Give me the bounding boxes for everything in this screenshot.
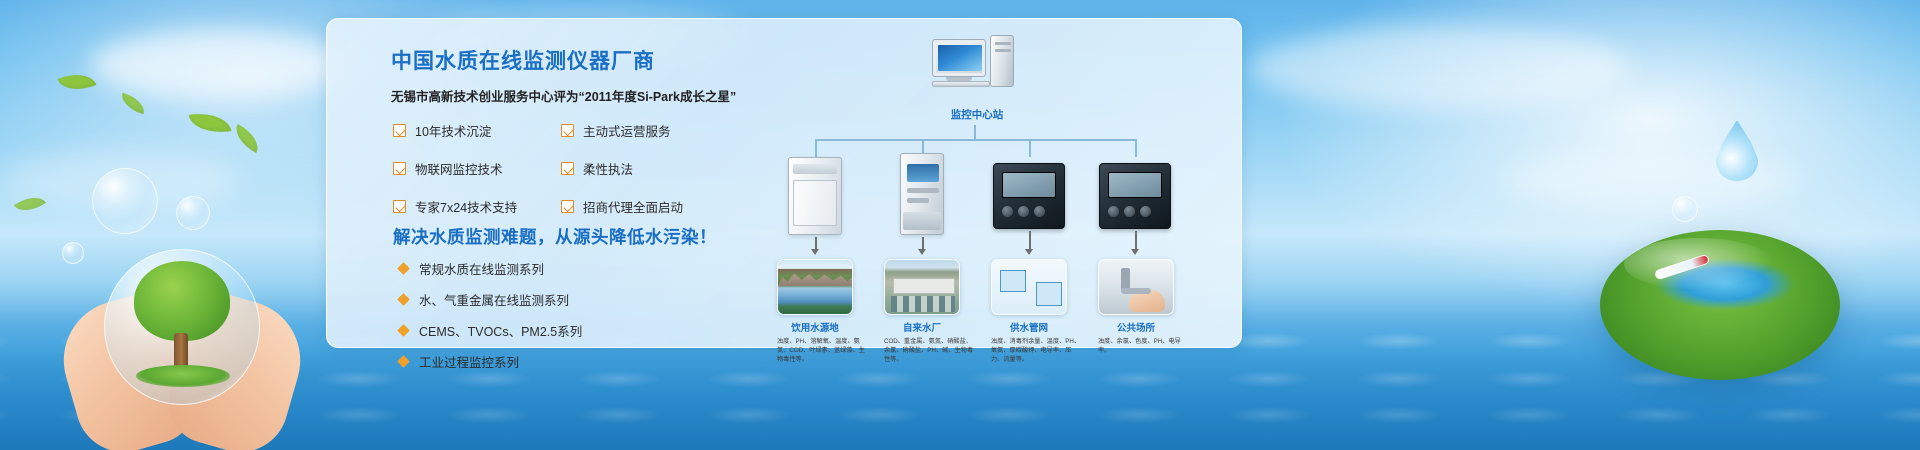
list-item: 水、气重金属在线监测系列	[399, 290, 582, 309]
feature-label: 10年技术沉淀	[415, 121, 491, 140]
arrow-down-icon	[918, 249, 926, 255]
scene-card[interactable]: 自来水厂 COD、重金属、氨氮、硝酸盐、余氯、硝酸盐、PH、碱、生物毒性等。	[884, 259, 960, 365]
hands-holding-tree-illustration	[62, 225, 302, 450]
list-item-label: 工业过程监控系列	[419, 352, 519, 371]
feature-item: 主动式运营服务	[561, 121, 723, 140]
scene-caption: 饮用水源地	[777, 320, 853, 334]
pc-tower-shape	[990, 35, 1014, 87]
content-panel: 中国水质在线监测仪器厂商 无锡市高新技术创业服务中心评为“2011年度Si-Pa…	[326, 18, 1242, 348]
device-button	[1002, 206, 1013, 217]
device-button	[1124, 206, 1135, 217]
page-subtitle: 无锡市高新技术创业服务中心评为“2011年度Si-Park成长之星”	[391, 86, 741, 105]
feature-label: 主动式运营服务	[583, 121, 671, 140]
checkbox-checked-icon	[393, 162, 406, 175]
device-controller-2	[1099, 163, 1171, 229]
scene-thumbnail	[1098, 259, 1174, 315]
feature-label: 招商代理全面启动	[583, 197, 683, 216]
hero-banner: 中国水质在线监测仪器厂商 无锡市高新技术创业服务中心评为“2011年度Si-Pa…	[0, 0, 1920, 450]
tree-crown	[134, 261, 230, 341]
scene-thumbnail	[991, 259, 1067, 315]
list-item: CEMS、TVOCs、PM2.5系列	[399, 321, 582, 340]
list-item-label: 常规水质在线监测系列	[419, 259, 544, 278]
scene-card[interactable]: 饮用水源地 浊度、PH、溶解氧、温度、氨氮、COD、叶绿素、蓝绿藻、生物毒性等。	[777, 259, 853, 365]
device-bar	[907, 198, 929, 203]
arrow-down-icon	[811, 249, 819, 255]
feature-item: 专家7x24技术支持	[393, 197, 561, 216]
arrow-down-icon	[1131, 249, 1139, 255]
connector-line	[1135, 139, 1137, 157]
device-base	[903, 212, 941, 230]
device-button	[1108, 206, 1119, 217]
monitoring-center-computer-icon	[932, 35, 1016, 87]
river-photo	[778, 260, 852, 314]
feature-checklist: 10年技术沉淀 主动式运营服务 物联网监控技术 柔性执法 专家7x24技术支持 …	[393, 121, 723, 216]
water-droplet-icon	[1715, 120, 1759, 182]
device-door	[793, 180, 837, 226]
scene-description: 浊度、余氯、色度、PH、电导率。	[1098, 338, 1188, 356]
hand-shape	[1129, 290, 1165, 312]
device-lcd	[1002, 172, 1056, 198]
center-node-label: 监控中心站	[907, 107, 1047, 122]
scene-description: COD、重金属、氨氮、硝酸盐、余氯、硝酸盐、PH、碱、生物毒性等。	[884, 338, 974, 365]
connector-bus-line	[815, 139, 1135, 141]
system-architecture-diagram: 监控中心站	[757, 33, 1227, 343]
scene-caption: 供水管网	[991, 320, 1067, 334]
arrow-shaft	[1029, 231, 1031, 251]
tap-photo	[1099, 260, 1173, 314]
arrow-shaft	[1135, 231, 1137, 251]
scene-card[interactable]: 公共场所 浊度、余氯、色度、PH、电导率。	[1098, 259, 1174, 356]
page-title: 中国水质在线监测仪器厂商	[391, 45, 741, 75]
diamond-bullet-icon	[397, 324, 410, 337]
section-title: 解决水质监测难题，从源头降低水污染！	[393, 224, 717, 249]
diamond-bullet-icon	[397, 355, 410, 368]
feature-item: 柔性执法	[561, 159, 723, 178]
scene-thumbnail	[884, 259, 960, 315]
connector-line	[974, 125, 976, 139]
feature-item: 10年技术沉淀	[393, 121, 561, 140]
cloud-decoration	[1250, 26, 1630, 110]
scene-caption: 自来水厂	[884, 320, 960, 334]
checkbox-checked-icon	[393, 124, 406, 137]
checkbox-checked-icon	[393, 200, 406, 213]
scene-description: 浊度、PH、溶解氧、温度、氨氮、COD、叶绿素、蓝绿藻、生物毒性等。	[777, 338, 867, 365]
device-controller-1	[993, 163, 1065, 229]
diamond-bullet-icon	[397, 293, 410, 306]
scene-caption: 公共场所	[1098, 320, 1174, 334]
device-button	[1140, 206, 1151, 217]
scene-thumbnail	[777, 259, 853, 315]
waterworks-photo	[885, 260, 959, 314]
feature-label: 柔性执法	[583, 159, 633, 178]
keyboard-shape	[932, 81, 990, 87]
arrow-down-icon	[1025, 249, 1033, 255]
connector-line	[1029, 139, 1031, 157]
cloud-decoration	[90, 30, 350, 100]
left-text-column: 中国水质在线监测仪器厂商 无锡市高新技术创业服务中心评为“2011年度Si-Pa…	[391, 45, 741, 105]
scene-card[interactable]: 供水管网 浊度、消毒剂余量、温度、PH、氧氮、厚碳酸钾、电导率、压力、流量等。	[991, 259, 1067, 365]
device-water-cabinet	[788, 157, 842, 235]
scene-description: 浊度、消毒剂余量、温度、PH、氧氮、厚碳酸钾、电导率、压力、流量等。	[991, 338, 1081, 365]
device-button-row	[1108, 202, 1162, 220]
checkbox-checked-icon	[561, 200, 574, 213]
device-button-row	[1002, 202, 1056, 220]
monitor-shape	[932, 39, 986, 77]
feature-label: 物联网监控技术	[415, 159, 503, 178]
product-series-list: 常规水质在线监测系列 水、气重金属在线监测系列 CEMS、TVOCs、PM2.5…	[399, 259, 582, 383]
list-item-label: 水、气重金属在线监测系列	[419, 290, 569, 309]
feature-item: 物联网监控技术	[393, 159, 561, 178]
feature-item: 招商代理全面启动	[561, 197, 723, 216]
device-bar	[907, 188, 939, 193]
device-button	[1018, 206, 1029, 217]
connector-line	[815, 139, 817, 157]
feature-label: 专家7x24技术支持	[415, 197, 517, 216]
diamond-bullet-icon	[397, 262, 410, 275]
checkbox-checked-icon	[561, 124, 574, 137]
checkbox-checked-icon	[561, 162, 574, 175]
bubble-decoration	[1672, 196, 1698, 222]
list-item: 工业过程监控系列	[399, 352, 582, 371]
leaf-icon	[189, 109, 232, 136]
device-top-strip	[793, 164, 837, 174]
list-item-label: CEMS、TVOCs、PM2.5系列	[419, 321, 582, 340]
monitor-screen	[938, 45, 982, 71]
leaf-icon	[230, 124, 264, 153]
device-lcd	[1108, 172, 1162, 198]
pipe-network-diagram-photo	[992, 260, 1066, 314]
leaf-icon	[57, 66, 96, 97]
device-button	[1034, 206, 1045, 217]
leaf-icon	[118, 93, 147, 115]
list-item: 常规水质在线监测系列	[399, 259, 582, 278]
device-analyzer	[900, 153, 944, 235]
tree-grass	[136, 365, 230, 387]
device-screen	[907, 164, 939, 182]
